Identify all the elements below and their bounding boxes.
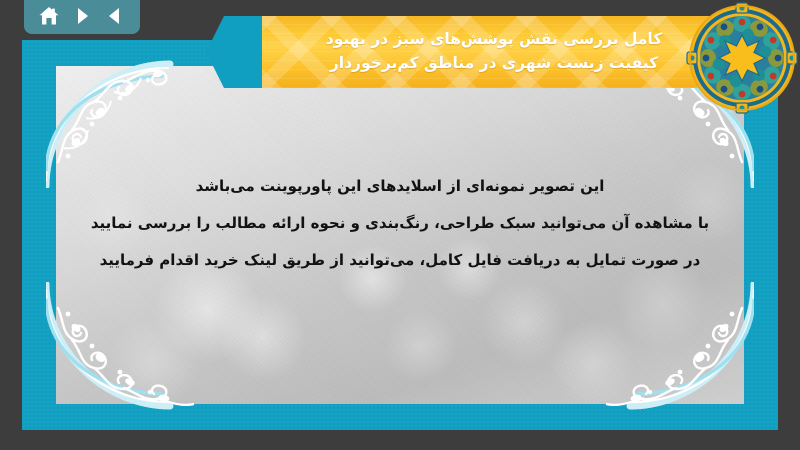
triangle-left-icon (105, 6, 125, 26)
persian-medallion-icon (686, 2, 798, 114)
home-icon (38, 6, 60, 26)
previous-slide-button[interactable] (102, 4, 128, 28)
slide-title-banner: کامل بررسی نقش پوشش‌های سبز در بهبود کیف… (206, 16, 726, 88)
body-line-3: در صورت تمایل به دریافت فایل کامل، می‌تو… (22, 242, 778, 279)
next-slide-button[interactable] (69, 4, 95, 28)
slide-navigation-bar (24, 0, 140, 34)
triangle-right-icon (72, 6, 92, 26)
body-line-2: با مشاهده آن می‌توانید سبک طراحی، رنگ‌بن… (22, 205, 778, 242)
slide: این تصویر نمونه‌ای از اسلایدهای این پاور… (22, 40, 778, 430)
slide-viewer: این تصویر نمونه‌ای از اسلایدهای این پاور… (0, 0, 800, 450)
slide-title-line-2: کیفیت زیست شهری در مناطق کم‌برخوردار (330, 52, 658, 76)
arrow-left-icon (206, 16, 266, 88)
body-line-1: این تصویر نمونه‌ای از اسلایدهای این پاور… (22, 168, 778, 205)
home-button[interactable] (36, 4, 62, 28)
slide-title-line-1: کامل بررسی نقش پوشش‌های سبز در بهبود (326, 28, 662, 52)
slide-body-text: این تصویر نمونه‌ای از اسلایدهای این پاور… (22, 168, 778, 278)
slide-title-text: کامل بررسی نقش پوشش‌های سبز در بهبود کیف… (262, 16, 726, 88)
